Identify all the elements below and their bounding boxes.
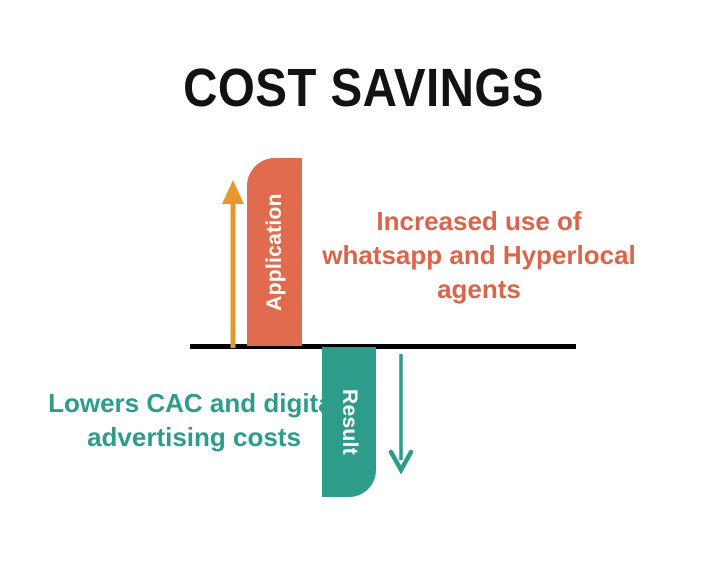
callout-application: Increased use of whatsapp and Hyperlocal… <box>320 204 638 306</box>
bar-label-application-text: Application <box>263 193 287 311</box>
callout-result: Lowers CAC and digital advertising costs <box>46 386 342 454</box>
bar-label-application: Application <box>247 158 302 346</box>
infographic-canvas: COST SAVINGS Application Increased use o… <box>0 0 727 582</box>
arrow-down-icon <box>386 352 416 474</box>
arrow-up-icon <box>218 178 248 350</box>
page-title: COST SAVINGS <box>44 58 684 118</box>
bar-application: Application <box>247 158 302 346</box>
